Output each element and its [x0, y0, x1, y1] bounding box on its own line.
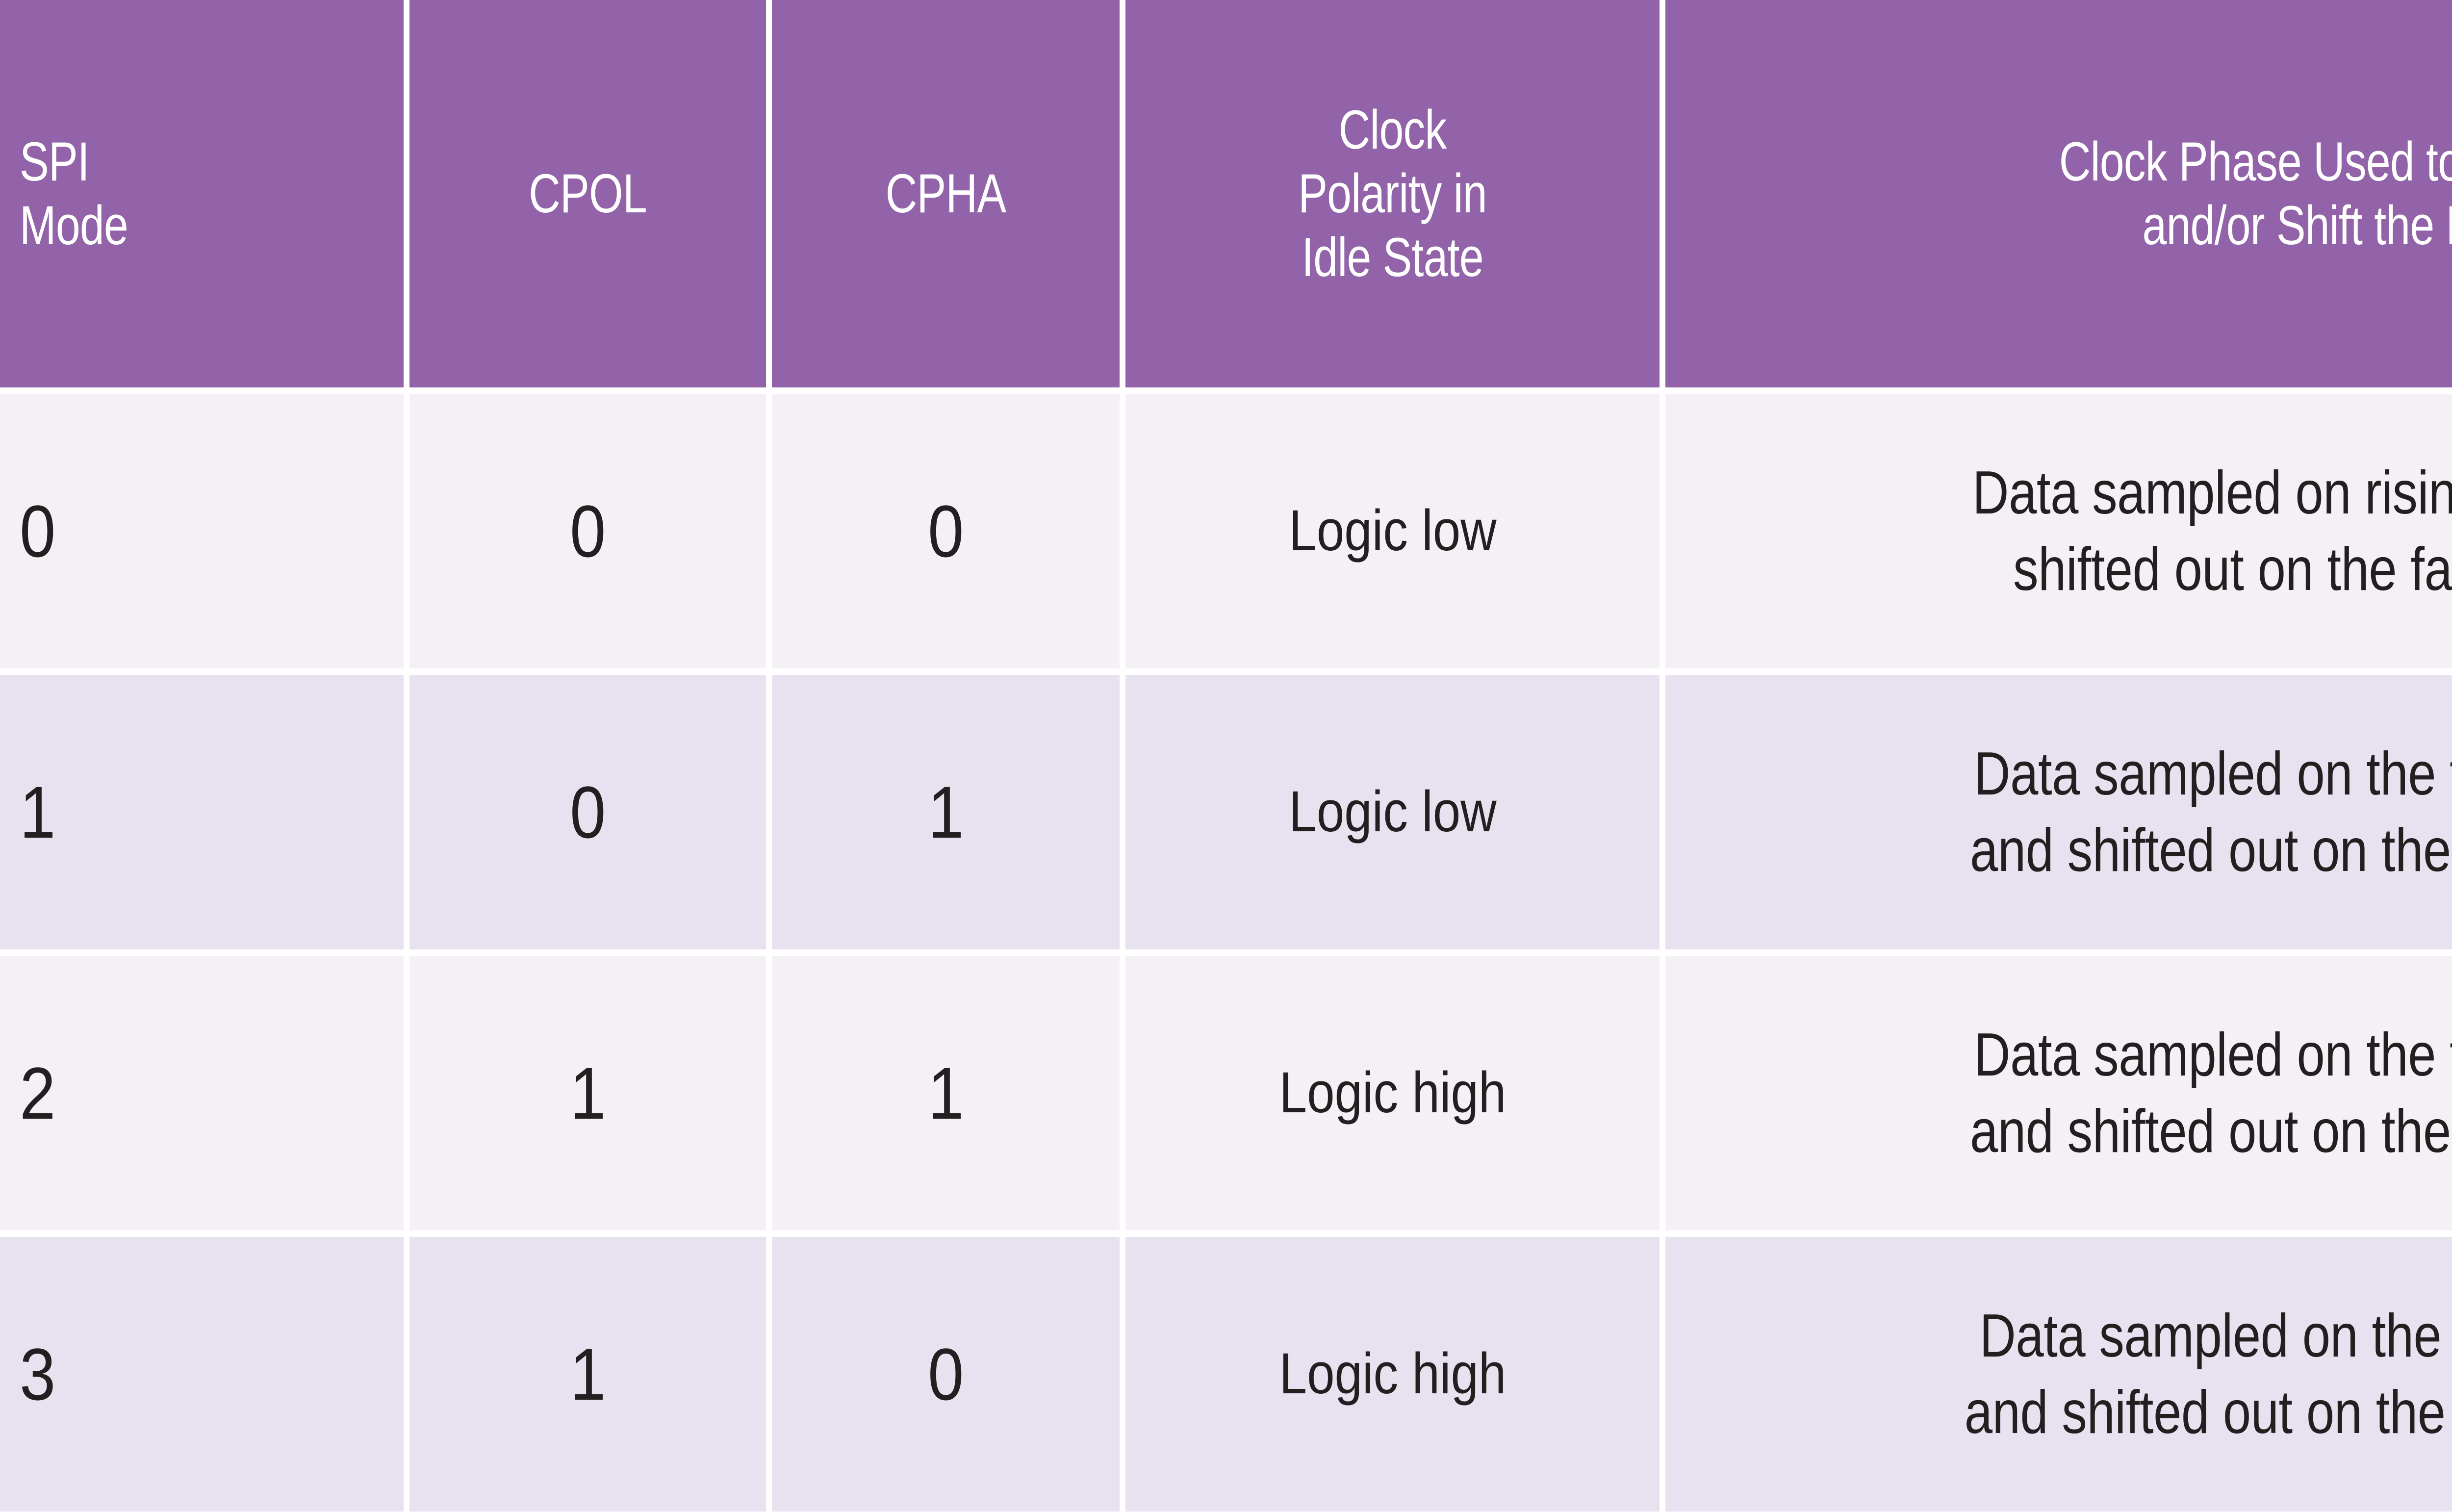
cell-clock-phase-value: Data sampled on the falling edge and shi…: [1787, 1017, 2452, 1170]
cell-cpol: 0: [409, 675, 766, 949]
cell-clock-polarity-value: Logic high: [1279, 1063, 1506, 1124]
column-header-clock-phase: Clock Phase Used to Sample and/or Shift …: [1665, 0, 2452, 387]
cell-cpha: 1: [772, 956, 1120, 1230]
table-row: 1 0 1 Logic low Data sampled on the fall…: [0, 675, 2452, 949]
cell-cpha-value: 0: [928, 1337, 964, 1411]
column-header-cpol-label: CPOL: [452, 162, 723, 226]
cell-clock-phase: Data sampled on the rising edge and shif…: [1665, 1237, 2452, 1512]
cell-spi-mode-value: 1: [20, 775, 55, 849]
column-header-spi-mode-label: SPI Mode: [20, 130, 320, 257]
cell-cpol-value: 1: [570, 1337, 606, 1411]
column-header-clock-phase-label: Clock Phase Used to Sample and/or Shift …: [1807, 130, 2452, 257]
cell-clock-polarity-value: Logic low: [1289, 782, 1496, 843]
column-header-clock-polarity-label: Clock Polarity in Idle State: [1186, 98, 1599, 289]
cell-clock-polarity: Logic low: [1125, 675, 1660, 949]
cell-clock-phase: Data sampled on the falling edge and shi…: [1665, 956, 2452, 1230]
cell-cpol-value: 0: [570, 775, 606, 849]
cell-clock-phase-value: Data sampled on the falling edge and shi…: [1787, 736, 2452, 889]
cell-cpha: 0: [772, 1237, 1120, 1512]
column-header-spi-mode: SPI Mode: [0, 0, 404, 387]
table-row: 0 0 0 Logic low Data sampled on rising e…: [0, 394, 2452, 668]
cell-cpha-value: 0: [928, 494, 964, 568]
cell-spi-mode: 3: [0, 1237, 404, 1512]
cell-cpol-value: 1: [570, 1056, 606, 1130]
table-row: 2 1 1 Logic high Data sampled on the fal…: [0, 956, 2452, 1230]
column-header-cpol: CPOL: [409, 0, 766, 387]
cell-cpol: 1: [409, 1237, 766, 1512]
cell-cpol: 0: [409, 394, 766, 668]
column-header-cpha: CPHA: [772, 0, 1120, 387]
cell-cpha-value: 1: [928, 775, 964, 849]
cell-clock-phase-value: Data sampled on the rising edge and shif…: [1787, 1298, 2452, 1451]
table-row: 3 1 0 Logic high Data sampled on the ris…: [0, 1237, 2452, 1512]
spi-modes-table: SPI Mode CPOL CPHA Clock Polarity in Idl…: [0, 0, 2452, 1512]
cell-clock-polarity-value: Logic high: [1279, 1344, 1506, 1405]
cell-cpha-value: 1: [928, 1056, 964, 1130]
cell-clock-polarity: Logic high: [1125, 1237, 1660, 1512]
cell-clock-polarity: Logic low: [1125, 394, 1660, 668]
cell-clock-phase: Data sampled on rising edge and shifted …: [1665, 394, 2452, 668]
cell-clock-polarity-value: Logic low: [1289, 501, 1496, 562]
cell-spi-mode-value: 3: [20, 1337, 55, 1411]
cell-clock-polarity: Logic high: [1125, 956, 1660, 1230]
cell-clock-phase: Data sampled on the falling edge and shi…: [1665, 675, 2452, 949]
cell-cpha: 0: [772, 394, 1120, 668]
cell-cpol: 1: [409, 956, 766, 1230]
cell-spi-mode-value: 2: [20, 1056, 55, 1130]
column-header-cpha-label: CPHA: [814, 162, 1077, 226]
cell-cpol-value: 0: [570, 494, 606, 568]
cell-spi-mode: 0: [0, 394, 404, 668]
cell-spi-mode-value: 0: [20, 494, 55, 568]
column-header-clock-polarity: Clock Polarity in Idle State: [1125, 0, 1660, 387]
cell-clock-phase-value: Data sampled on rising edge and shifted …: [1787, 455, 2452, 608]
cell-spi-mode: 2: [0, 956, 404, 1230]
table-header-row: SPI Mode CPOL CPHA Clock Polarity in Idl…: [0, 0, 2452, 387]
cell-cpha: 1: [772, 675, 1120, 949]
cell-spi-mode: 1: [0, 675, 404, 949]
